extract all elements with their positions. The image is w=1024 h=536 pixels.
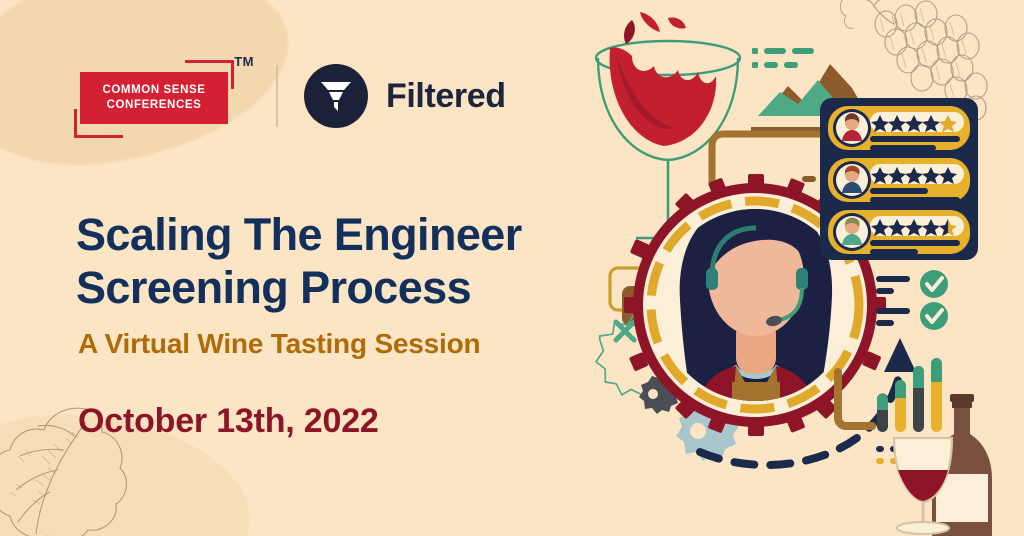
filtered-logo[interactable]: Filtered — [304, 64, 506, 128]
check-circle-icon — [920, 302, 948, 330]
event-date: October 13th, 2022 — [78, 402, 379, 441]
checklist-item-1 — [876, 270, 948, 298]
check-circle-icon — [920, 270, 948, 298]
checklist — [876, 270, 948, 330]
engineer-screening-illustration — [580, 0, 1024, 536]
wine-glass-splash — [610, 12, 717, 146]
brand-header: TM COMMON SENSE CONFERENCES Filtered — [74, 54, 506, 138]
poster-canvas: TM COMMON SENSE CONFERENCES Filtered Sca… — [0, 0, 1024, 536]
filtered-wordmark: Filtered — [386, 77, 506, 116]
logo-line-2: CONFERENCES — [107, 99, 202, 112]
logo-line-1: COMMON SENSE — [102, 84, 205, 97]
dash-marks — [752, 48, 814, 68]
checklist-item-2 — [876, 302, 948, 330]
review-row-2 — [828, 158, 970, 203]
page-title: Scaling The Engineer Screening Process — [76, 208, 636, 314]
review-row-1 — [828, 106, 970, 151]
reviews-card — [820, 98, 978, 260]
common-sense-conferences-logo[interactable]: TM COMMON SENSE CONFERENCES — [74, 54, 250, 138]
logo-red-box: COMMON SENSE CONFERENCES — [80, 72, 228, 124]
trademark-symbol: TM — [234, 54, 254, 69]
funnel-icon — [304, 64, 368, 128]
title-line-2: Screening Process — [76, 261, 636, 314]
card-tick-left — [802, 176, 816, 182]
logo-divider — [276, 65, 278, 127]
page-subtitle: A Virtual Wine Tasting Session — [78, 328, 638, 360]
title-line-1: Scaling The Engineer — [76, 208, 636, 261]
review-row-3 — [828, 210, 970, 255]
